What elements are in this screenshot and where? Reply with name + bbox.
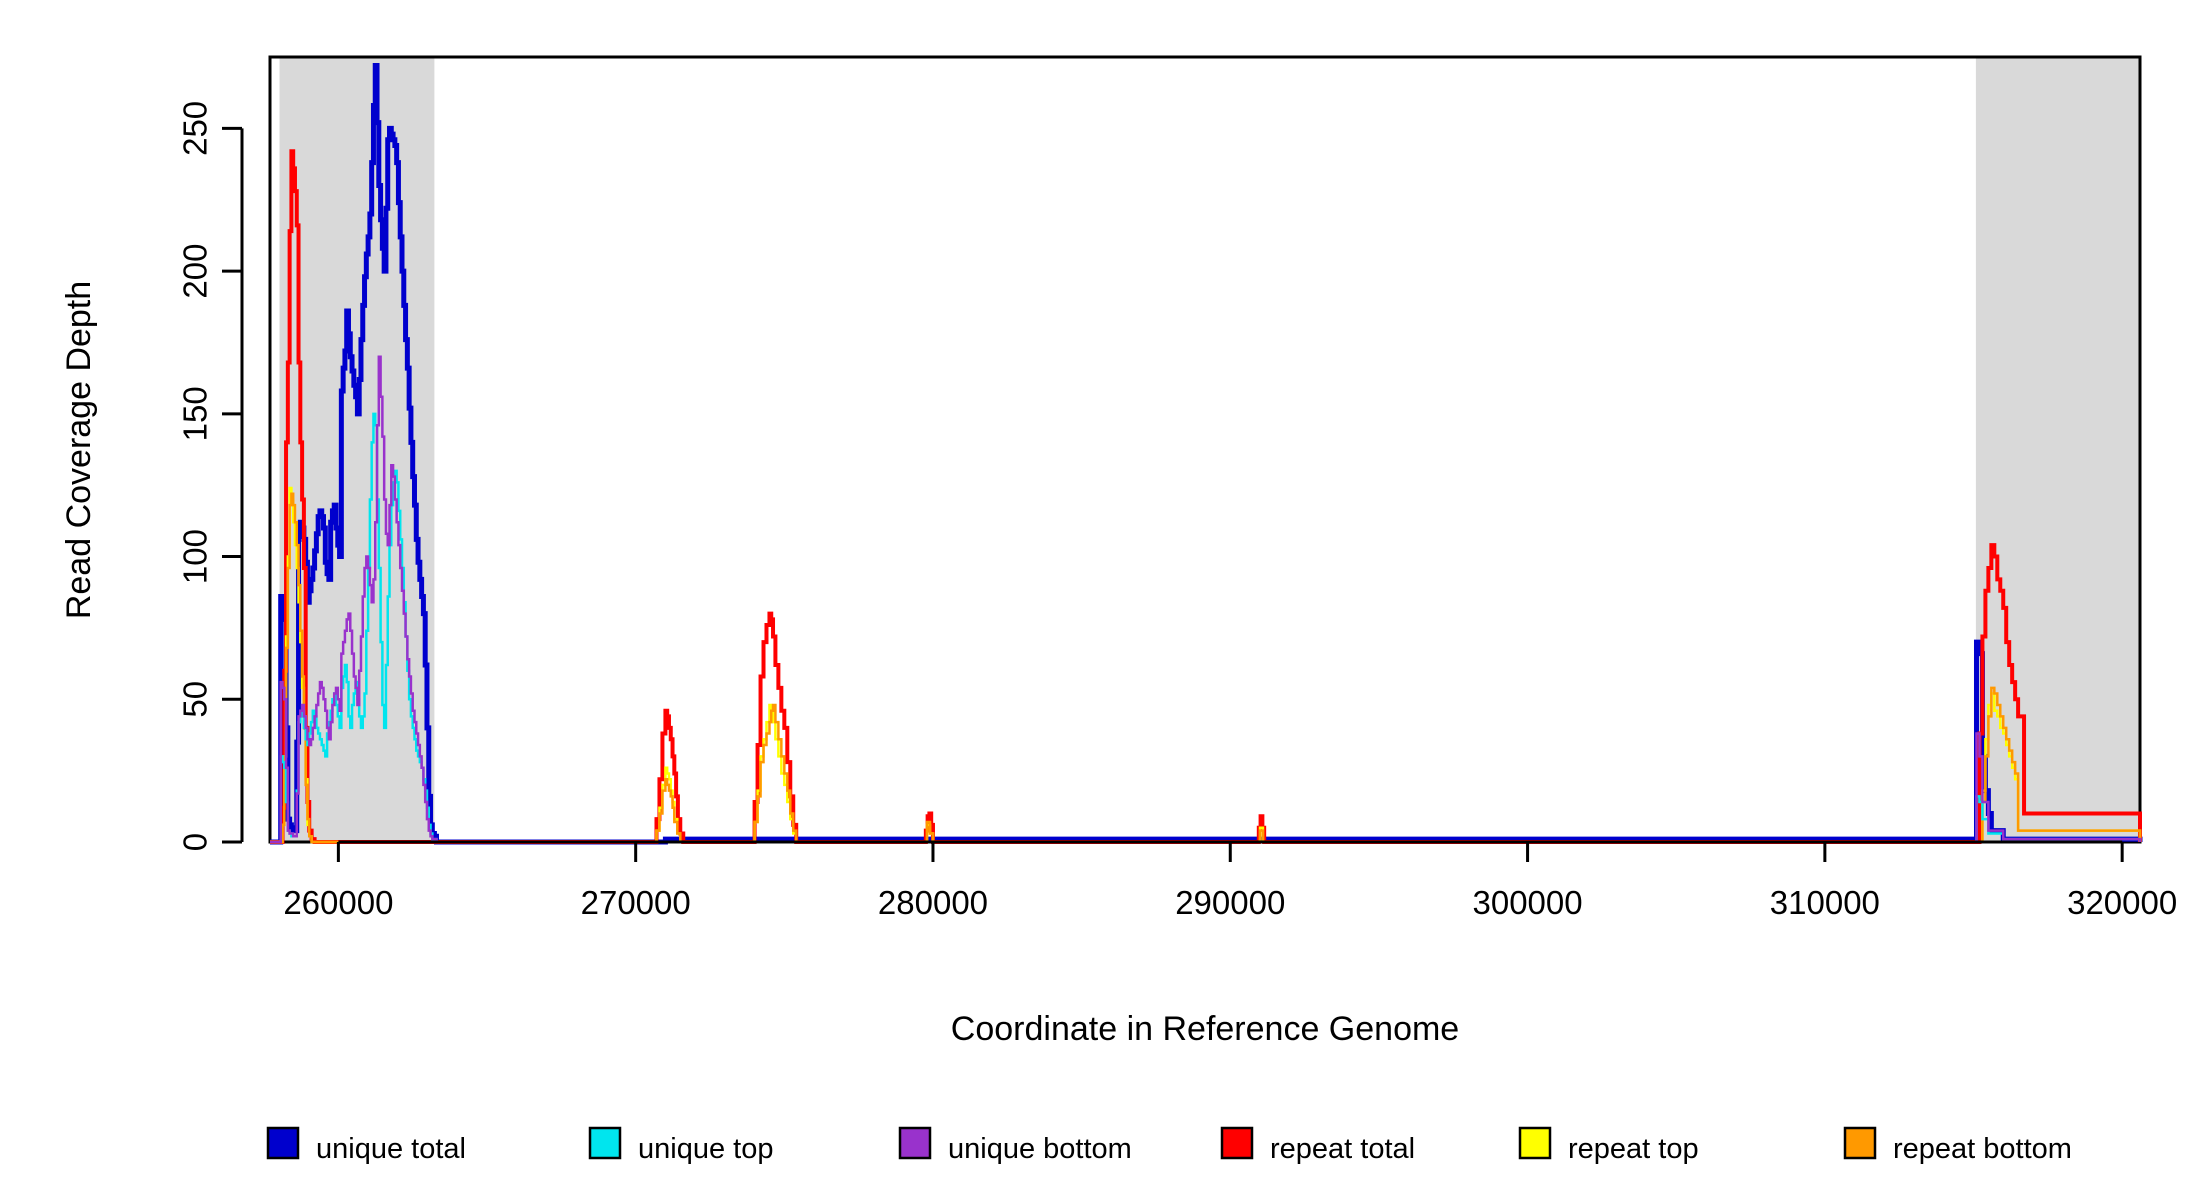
x-tick-label: 300000	[1473, 884, 1583, 921]
legend-swatch-icon	[900, 1128, 930, 1158]
y-tick-label: 250	[177, 101, 214, 156]
y-tick-label: 0	[177, 833, 214, 851]
legend-swatch-icon	[1222, 1128, 1252, 1158]
y-tick-label: 100	[177, 529, 214, 584]
y-tick-label: 50	[177, 681, 214, 718]
y-tick-label: 200	[177, 244, 214, 299]
x-tick-label: 310000	[1770, 884, 1880, 921]
legend-label: repeat top	[1568, 1133, 1699, 1165]
x-tick-label: 260000	[283, 884, 393, 921]
chart-page: 2600002700002800002900003000003100003200…	[0, 0, 2200, 1200]
x-axis-title: Coordinate in Reference Genome	[951, 1010, 1459, 1048]
legend-label: unique bottom	[948, 1133, 1132, 1165]
coverage-depth-plot: 2600002700002800002900003000003100003200…	[0, 0, 2200, 1200]
y-tick-label: 150	[177, 386, 214, 441]
x-tick-label: 320000	[2067, 884, 2177, 921]
legend-label: unique top	[638, 1133, 773, 1165]
y-axis-title: Read Coverage Depth	[60, 281, 98, 619]
x-tick-label: 290000	[1175, 884, 1285, 921]
legend-swatch-icon	[1520, 1128, 1550, 1158]
legend-label: unique total	[316, 1133, 466, 1165]
x-tick-label: 270000	[581, 884, 691, 921]
legend-swatch-icon	[590, 1128, 620, 1158]
legend-label: repeat bottom	[1893, 1133, 2072, 1165]
x-tick-label: 280000	[878, 884, 988, 921]
legend-label: repeat total	[1270, 1133, 1415, 1165]
legend-swatch-icon	[268, 1128, 298, 1158]
legend-swatch-icon	[1845, 1128, 1875, 1158]
